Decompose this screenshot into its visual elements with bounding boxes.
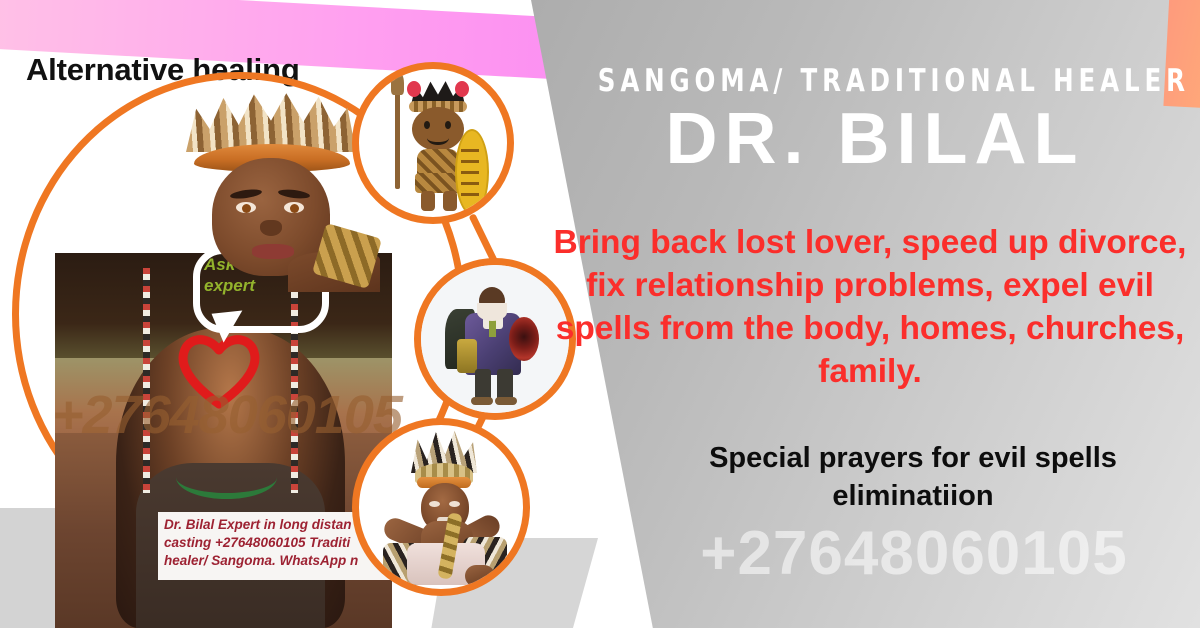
badge-crouching-warrior[interactable] xyxy=(352,418,530,596)
warrior-eye-left xyxy=(424,121,430,129)
portrait-nose xyxy=(260,220,282,236)
red-plume-right xyxy=(455,81,469,97)
healer-sandal-left xyxy=(471,397,493,405)
crouching-warrior-eye-right xyxy=(449,501,460,507)
service-kicker: SANGOMA/ TRADITIONAL HEALER xyxy=(598,63,1152,99)
warrior-leg-right xyxy=(443,191,457,211)
healer-beard xyxy=(477,303,507,321)
healer-sandal-right xyxy=(495,397,517,405)
portrait-pupil-left xyxy=(242,204,251,213)
badge-zulu-warrior-cartoon[interactable] xyxy=(352,62,514,224)
red-plume-left xyxy=(407,81,421,97)
spear-tip-icon xyxy=(391,71,404,95)
crouching-warrior-knee xyxy=(465,565,495,587)
shield-pattern xyxy=(461,141,479,199)
crouching-warrior-eye-left xyxy=(429,501,440,507)
warrior-eye-right xyxy=(445,121,451,129)
healer-cloth xyxy=(457,339,477,373)
portrait-pupil-right xyxy=(290,204,299,213)
warrior-smile xyxy=(427,131,449,145)
feather-headdress xyxy=(186,92,356,152)
services-description: Bring back lost lover, speed up divorce,… xyxy=(546,222,1194,394)
gray-bottom-left-block xyxy=(0,508,58,628)
illustrated-healer-portrait xyxy=(168,92,373,277)
beaded-strand-left xyxy=(143,268,150,493)
poster-canvas: Alternative healing Ask the expert +2764… xyxy=(0,0,1200,628)
green-necklace xyxy=(176,456,277,500)
special-prayers-text: Special prayers for evil spells eliminat… xyxy=(630,440,1196,515)
warrior-leg-left xyxy=(421,191,435,211)
portrait-mouth xyxy=(252,244,294,259)
round-shield-icon xyxy=(509,317,539,361)
phone-number-watermark: +27648060105 xyxy=(628,518,1200,589)
brand-name: DR. BILAL xyxy=(560,100,1190,179)
